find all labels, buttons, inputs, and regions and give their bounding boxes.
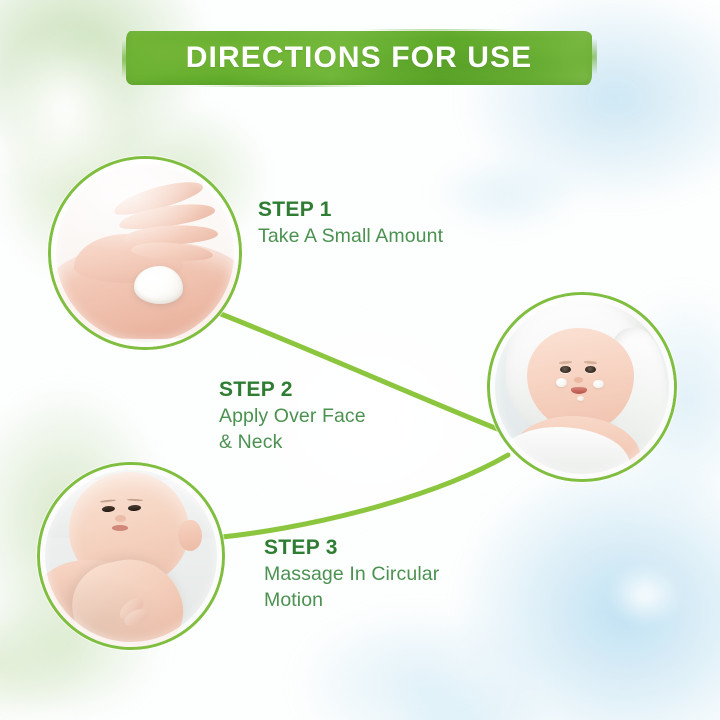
step-1-title: STEP 1 <box>258 198 443 221</box>
step-2-description: Apply Over Face & Neck <box>219 404 366 456</box>
page-title: DIRECTIONS FOR USE <box>126 31 592 85</box>
image-massaging-baby-cheek <box>40 465 222 647</box>
step-3-description: Massage In Circular Motion <box>264 562 439 614</box>
step-3-text: STEP 3 Massage In Circular Motion <box>264 536 439 614</box>
step-2-text: STEP 2 Apply Over Face & Neck <box>219 378 366 456</box>
mouth <box>571 387 587 394</box>
step-2-title: STEP 2 <box>219 378 366 401</box>
step-1-image-circle <box>48 156 242 350</box>
cream-dab-chin <box>577 396 584 401</box>
cream-dab-left-cheek <box>556 378 568 387</box>
eyebrow-right <box>584 361 597 365</box>
step-3-title: STEP 3 <box>264 536 439 559</box>
header-banner: DIRECTIONS FOR USE <box>126 31 592 85</box>
eye-right <box>585 366 596 373</box>
step-1-description: Take A Small Amount <box>258 224 443 250</box>
step-3-image-circle <box>37 462 225 650</box>
nose <box>574 377 584 383</box>
eyebrow-left <box>559 361 572 365</box>
step-2-image-circle <box>487 292 677 482</box>
photo-shadow <box>40 465 222 647</box>
image-hands-with-cream <box>51 159 239 347</box>
connector-step2-to-step3 <box>212 455 508 538</box>
directions-for-use-poster: DIRECTIONS FOR USE <box>0 0 720 720</box>
image-baby-in-towel <box>490 295 674 479</box>
step-1-text: STEP 1 Take A Small Amount <box>258 198 443 250</box>
cream-dab-right-cheek <box>593 380 604 388</box>
photo-highlight <box>51 159 239 347</box>
eye-left <box>560 366 571 373</box>
